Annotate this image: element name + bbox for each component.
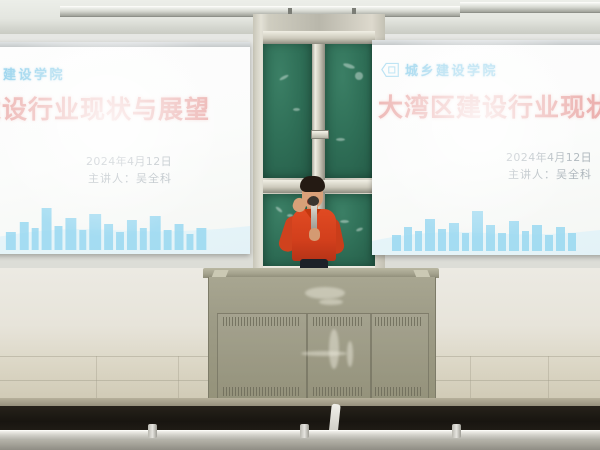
slide-right-date: 2024年4月12日 bbox=[432, 150, 592, 167]
slide-right-meta: 2024年4月12日 主讲人：吴全科 bbox=[432, 150, 592, 183]
speaker-hair bbox=[300, 176, 325, 192]
skyline-graphic-left bbox=[0, 196, 250, 254]
podium-body bbox=[208, 277, 436, 407]
floor-seam-vertical bbox=[548, 356, 549, 400]
speaker-person bbox=[276, 176, 352, 276]
chalkboard-pane-upper-left bbox=[263, 42, 312, 178]
handrail-post bbox=[148, 424, 157, 438]
slide-right: 城乡建设学院 大湾区建设行业现状 2024年4月12日 主讲人：吴全科 bbox=[372, 40, 600, 255]
floor-seam-vertical bbox=[178, 356, 179, 400]
bottom-step-edge bbox=[0, 440, 600, 450]
handrail-post bbox=[300, 424, 309, 438]
chalkboard-mullion-top bbox=[263, 31, 375, 44]
lecture-hall-photo: 建设学院 建设行业现状与展望 2024年4月12日 主讲人：吴全科 bbox=[0, 0, 600, 450]
podium-vent bbox=[375, 387, 423, 396]
podium-vent bbox=[223, 317, 299, 326]
slide-right-title: 大湾区建设行业现状 bbox=[378, 88, 600, 124]
chalkboard-pane-upper-right bbox=[325, 42, 375, 178]
slide-left-logo-text: 建设学院 bbox=[3, 64, 65, 83]
floor-seam-vertical bbox=[470, 356, 471, 400]
institute-logo-icon bbox=[380, 60, 401, 79]
slide-right-logo-row: 城乡建设学院 bbox=[380, 60, 498, 79]
slide-left-presenter: 主讲人：吴全科 bbox=[12, 171, 172, 188]
projection-screen-left: 建设学院 建设行业现状与展望 2024年4月12日 主讲人：吴全科 bbox=[0, 42, 250, 254]
slide-left-logo-row: 建设学院 bbox=[0, 64, 65, 83]
slide-left: 建设学院 建设行业现状与展望 2024年4月12日 主讲人：吴全科 bbox=[0, 42, 250, 254]
microphone-head-icon bbox=[308, 196, 319, 206]
projection-screen-right: 城乡建设学院 大湾区建设行业现状 2024年4月12日 主讲人：吴全科 bbox=[372, 40, 600, 255]
podium-vent bbox=[313, 387, 363, 396]
metal-podium bbox=[203, 268, 439, 414]
podium-vent bbox=[313, 317, 363, 326]
slide-right-presenter: 主讲人：吴全科 bbox=[432, 167, 592, 184]
floor-seam-vertical bbox=[96, 356, 97, 400]
slide-left-meta: 2024年4月12日 主讲人：吴全科 bbox=[12, 154, 172, 187]
podium-vent bbox=[375, 317, 423, 326]
skyline-graphic-right bbox=[372, 197, 600, 255]
podium-vent bbox=[223, 387, 299, 396]
chalkboard-latch[interactable] bbox=[311, 130, 329, 139]
screen-rail-right bbox=[460, 2, 600, 13]
speaker-hand-right bbox=[309, 228, 320, 241]
slide-left-title: 建设行业现状与展望 bbox=[0, 90, 210, 126]
slide-right-logo-text: 城乡建设学院 bbox=[405, 60, 498, 79]
slide-left-date: 2024年4月12日 bbox=[12, 154, 172, 171]
handrail-post bbox=[452, 424, 461, 438]
